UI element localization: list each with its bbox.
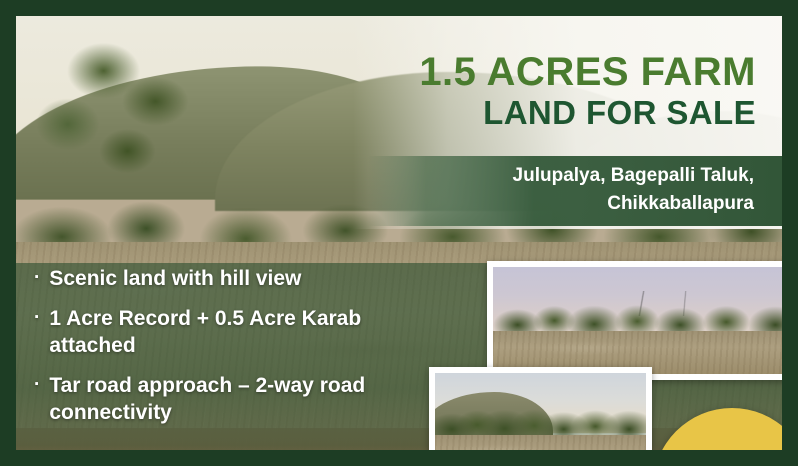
photo-scrub	[435, 404, 646, 439]
headline-line-2: LAND FOR SALE	[326, 96, 756, 131]
inset-photo-dusk-image	[493, 267, 782, 374]
location-text: Julupalya, Bagepalli Taluk, Chikkaballap…	[354, 162, 754, 217]
location-line-2: Chikkaballapura	[354, 190, 754, 218]
feature-text: 1 Acre Record + 0.5 Acre Karab attached	[49, 306, 434, 360]
bullet-dot-icon: ·	[34, 373, 40, 398]
features-list: · Scenic land with hill view · 1 Acre Re…	[34, 266, 434, 439]
list-item: · Scenic land with hill view	[34, 266, 434, 293]
list-item: · 1 Acre Record + 0.5 Acre Karab attache…	[34, 306, 434, 360]
flyer-card: 1.5 ACRES FARM LAND FOR SALE Julupalya, …	[0, 0, 798, 466]
inset-photo-hill	[429, 367, 652, 450]
feature-text: Tar road approach – 2-way road connectiv…	[49, 373, 434, 427]
inset-photo-hill-image	[435, 373, 646, 450]
bullet-dot-icon: ·	[34, 266, 40, 291]
bullet-dot-icon: ·	[34, 306, 40, 331]
list-item: · Tar road approach – 2-way road connect…	[34, 373, 434, 427]
photo-ground-texture	[435, 435, 646, 450]
photo-scrub	[493, 299, 782, 335]
tree-left	[24, 25, 223, 216]
feature-text: Scenic land with hill view	[49, 266, 301, 293]
location-line-1: Julupalya, Bagepalli Taluk,	[354, 162, 754, 190]
headline-line-1: 1.5 ACRES FARM	[326, 52, 756, 94]
flyer-stage: 1.5 ACRES FARM LAND FOR SALE Julupalya, …	[16, 16, 782, 450]
page-title: 1.5 ACRES FARM LAND FOR SALE	[326, 52, 756, 131]
inset-photo-dusk	[487, 261, 782, 380]
